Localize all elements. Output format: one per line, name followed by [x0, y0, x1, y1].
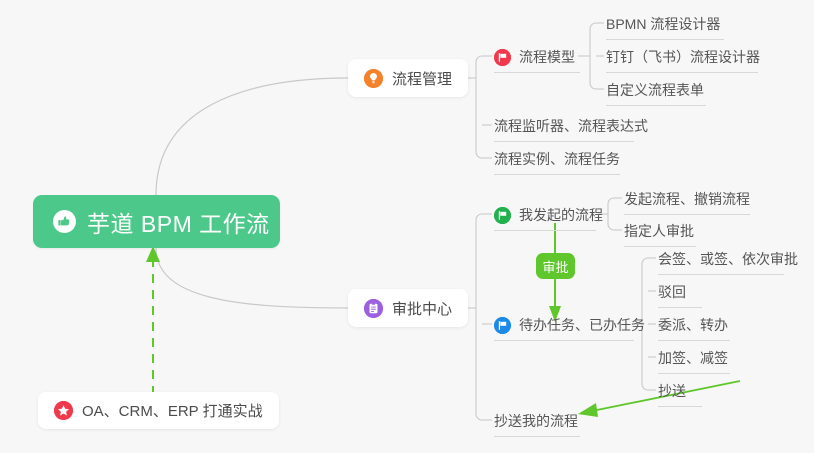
underline [658, 274, 784, 275]
node-cc-to-me-process-label: 抄送我的流程 [494, 411, 578, 431]
underline [494, 230, 596, 231]
underline [658, 406, 702, 407]
root-node[interactable]: 芋道 BPM 工作流 [33, 195, 280, 248]
node-custom-process-form-label: 自定义流程表单 [606, 80, 704, 100]
node-delegate-transfer-label: 委派、转办 [658, 315, 728, 335]
node-process-listener-expression[interactable]: 流程监听器、流程表达式 [494, 113, 648, 139]
clipboard-icon [364, 299, 383, 318]
node-countersign-orsign-sequential[interactable]: 会签、或签、依次审批 [658, 246, 798, 272]
underline [606, 72, 758, 73]
node-add-remove-sign-label: 加签、减签 [658, 348, 728, 368]
node-assignee-approval-label: 指定人审批 [624, 221, 694, 241]
node-process-instance-task[interactable]: 流程实例、流程任务 [494, 146, 620, 172]
node-integration-practice[interactable]: OA、CRM、ERP 打通实战 [38, 392, 279, 429]
flag-icon [494, 49, 511, 66]
node-delegate-transfer[interactable]: 委派、转办 [658, 312, 728, 338]
node-start-cancel-process-label: 发起流程、撤销流程 [624, 189, 750, 209]
approval-badge: 审批 [536, 253, 575, 279]
underline [494, 436, 580, 437]
underline [494, 340, 634, 341]
node-add-remove-sign[interactable]: 加签、减签 [658, 345, 728, 371]
node-cc-label: 抄送 [658, 381, 686, 401]
flag-icon [494, 207, 511, 224]
lightbulb-icon [364, 69, 383, 88]
thumbs-up-icon [53, 210, 76, 233]
node-cc[interactable]: 抄送 [658, 378, 686, 404]
node-approval-center[interactable]: 审批中心 [348, 289, 468, 327]
underline [494, 72, 580, 73]
node-reject[interactable]: 驳回 [658, 279, 686, 305]
node-process-management[interactable]: 流程管理 [348, 59, 468, 97]
underline [494, 141, 634, 142]
underline [658, 307, 702, 308]
flag-icon [494, 317, 511, 334]
node-bpmn-designer[interactable]: BPMN 流程设计器 [606, 11, 720, 37]
node-bpmn-designer-label: BPMN 流程设计器 [606, 14, 720, 34]
node-process-instance-task-label: 流程实例、流程任务 [494, 149, 620, 169]
node-assignee-approval[interactable]: 指定人审批 [624, 218, 694, 244]
underline [658, 373, 730, 374]
node-start-cancel-process[interactable]: 发起流程、撤销流程 [624, 186, 750, 212]
mindmap-canvas: 芋道 BPM 工作流 流程管理 流程模型 BPMN 流程设计器 [0, 0, 814, 453]
node-integration-practice-label: OA、CRM、ERP 打通实战 [82, 400, 263, 421]
node-todo-done-task-label: 待办任务、已办任务 [519, 315, 645, 335]
underline [494, 174, 620, 175]
node-process-model-label: 流程模型 [519, 47, 575, 67]
node-my-initiated-process[interactable]: 我发起的流程 [494, 202, 603, 228]
underline [606, 105, 706, 106]
node-my-initiated-process-label: 我发起的流程 [519, 205, 603, 225]
approval-badge-label: 审批 [542, 257, 568, 276]
star-icon [54, 401, 73, 420]
node-todo-done-task[interactable]: 待办任务、已办任务 [494, 312, 645, 338]
node-dingtalk-feishu-designer-label: 钉钉（飞书）流程设计器 [606, 47, 760, 67]
node-dingtalk-feishu-designer[interactable]: 钉钉（飞书）流程设计器 [606, 44, 760, 70]
root-label: 芋道 BPM 工作流 [87, 205, 270, 239]
node-process-listener-expression-label: 流程监听器、流程表达式 [494, 116, 648, 136]
node-approval-center-label: 审批中心 [392, 298, 452, 319]
node-countersign-orsign-sequential-label: 会签、或签、依次审批 [658, 249, 798, 269]
underline [606, 39, 724, 40]
node-cc-to-me-process[interactable]: 抄送我的流程 [494, 408, 578, 434]
node-process-management-label: 流程管理 [392, 68, 452, 89]
underline [658, 340, 730, 341]
underline [624, 214, 750, 215]
node-reject-label: 驳回 [658, 282, 686, 302]
node-custom-process-form[interactable]: 自定义流程表单 [606, 77, 704, 103]
node-process-model[interactable]: 流程模型 [494, 44, 575, 70]
